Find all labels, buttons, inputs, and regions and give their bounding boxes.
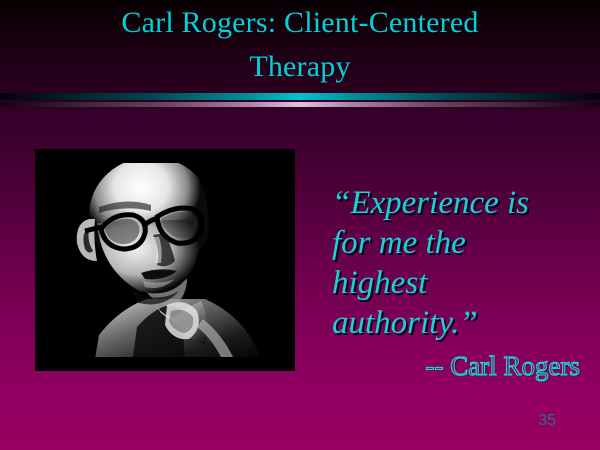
slide-title: Carl Rogers: Client-Centered Therapy [0,1,600,89]
portrait-photo [35,149,295,371]
divider-bar-pink [0,102,600,107]
portrait-photo-graphic [35,149,295,371]
divider-bar-cyan [0,93,600,100]
page-number: 35 [0,412,556,430]
quote-attribution: -- Carl Rogers [300,351,580,381]
slide: Carl Rogers: Client-Centered Therapy [0,0,600,450]
quote-text: “Experience is for me the highest author… [332,183,594,343]
